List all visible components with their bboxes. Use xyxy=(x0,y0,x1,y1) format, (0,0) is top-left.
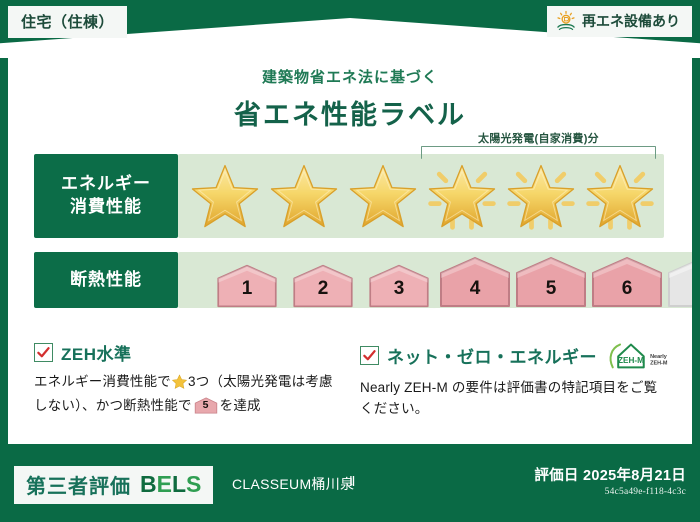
checkbox-checked-icon xyxy=(360,346,379,365)
energy-label-line2: 消費性能 xyxy=(70,196,142,219)
inline-star-icon xyxy=(172,374,187,396)
net-zero-description: Nearly ZEH-M の要件は評価書の特記項目をご覧ください。 xyxy=(360,378,664,420)
net-zero-energy-block: ネット・ゼロ・エネルギー ZEH-M Nearly ZEH-M Nearly Z… xyxy=(360,340,664,420)
insulation-grade-number: 3 xyxy=(362,278,436,300)
third-party-eval-label: 第三者評価 xyxy=(26,470,131,499)
title-subtitle: 建築物省エネ法に基づく xyxy=(8,66,692,87)
insulation-grade-number: 4 xyxy=(438,278,512,300)
solar-bracket-label: 太陽光発電(自家消費)分 xyxy=(419,130,658,146)
energy-label-root: 住宅（住棟） 再エネ設備あり 建築物省エネ法に基づく 省エネ性 xyxy=(0,0,700,522)
star-filled xyxy=(186,156,264,236)
insulation-performance-label: 断熱性能 xyxy=(34,252,178,308)
net-zero-header: ネット・ゼロ・エネルギー ZEH-M Nearly ZEH-M xyxy=(360,340,664,371)
zeh-m-logo-icon: ZEH-M Nearly ZEH-M xyxy=(607,340,675,371)
zeh-desc-part3: を達成 xyxy=(220,398,261,413)
zeh-standard-header: ZEH水準 xyxy=(34,340,338,365)
energy-label-line1: エネルギー xyxy=(61,173,151,196)
housing-type-tag: 住宅（住棟） xyxy=(8,6,127,38)
net-zero-title: ネット・ゼロ・エネルギー xyxy=(387,343,597,368)
energy-rating-area: 太陽光発電(自家消費)分 xyxy=(178,154,664,238)
title-block: 建築物省エネ法に基づく 省エネ性能ラベル xyxy=(8,44,692,132)
star-rating xyxy=(178,156,664,236)
bels-logo: BELS xyxy=(140,471,201,498)
insulation-performance-row: 断熱性能 1 2 3 4 5 xyxy=(34,252,664,308)
project-name: CLASSEUM桶川泉 xyxy=(232,474,354,494)
renewable-equipment-badge: 再エネ設備あり xyxy=(547,6,692,37)
insulation-grade-on: 3 xyxy=(362,264,436,308)
insulation-grade-on: 1 xyxy=(210,264,284,308)
energy-performance-row: エネルギー 消費性能 太陽光発電(自家消費)分 xyxy=(34,154,664,238)
insulation-grade-on: 6 xyxy=(590,256,664,308)
checkbox-checked-icon xyxy=(34,343,53,362)
page-title: 省エネ性能ラベル xyxy=(8,93,692,132)
renewable-badge-label: 再エネ設備あり xyxy=(582,11,680,31)
insulation-grade-scale: 1 2 3 4 5 6 7 xyxy=(178,252,692,308)
insulation-grade-number: 7 xyxy=(666,278,692,300)
insulation-grade-on: 2 xyxy=(286,264,360,308)
star-filled xyxy=(265,156,343,236)
star-solar xyxy=(502,156,580,236)
insulation-label-text: 断熱性能 xyxy=(70,269,142,292)
zeh-standard-block: ZEH水準 エネルギー消費性能で3つ（太陽光発電は考慮しない）、かつ断熱性能で5… xyxy=(34,340,338,420)
sun-renewable-icon xyxy=(555,10,577,32)
insulation-rating-area: 1 2 3 4 5 6 7 xyxy=(178,252,692,308)
insulation-grade-off: 7 xyxy=(666,256,692,308)
evaluation-date: 評価日 2025年8月21日 xyxy=(534,464,686,485)
insulation-grade-on: 4 xyxy=(438,256,512,308)
svg-text:Nearly: Nearly xyxy=(650,354,668,360)
solar-bracket: 太陽光発電(自家消費)分 xyxy=(419,132,658,158)
evaluation-id: 54c5a49e-f118-4c3c xyxy=(534,487,686,497)
zeh-standard-title: ZEH水準 xyxy=(61,340,132,365)
svg-text:ZEH-M: ZEH-M xyxy=(618,356,644,365)
zeh-desc-part1: エネルギー消費性能で xyxy=(34,374,171,389)
svg-text:ZEH-M: ZEH-M xyxy=(650,361,668,367)
project-name-suffix: Ⅱ xyxy=(349,474,355,490)
energy-performance-label: エネルギー 消費性能 xyxy=(34,154,178,238)
star-solar xyxy=(423,156,501,236)
zeh-standard-description: エネルギー消費性能で3つ（太陽光発電は考慮しない）、かつ断熱性能で5を達成 xyxy=(34,372,338,417)
label-card: 建築物省エネ法に基づく 省エネ性能ラベル ハウスタ エネルギー 消費性能 太陽光… xyxy=(8,44,692,444)
star-solar xyxy=(581,156,659,236)
insulation-grade-number: 5 xyxy=(514,278,588,300)
footer-band: 第三者評価 BELS CLASSEUM桶川泉 Ⅱ 評価日 2025年8月21日 … xyxy=(0,452,700,522)
insulation-grade-number: 6 xyxy=(590,278,664,300)
bels-certification-badge: 第三者評価 BELS xyxy=(14,466,213,504)
insulation-grade-number: 1 xyxy=(210,278,284,300)
inline-house-badge: 5 xyxy=(194,397,218,414)
insulation-grade-on: 5 xyxy=(514,256,588,308)
zeh-criteria-section: ZEH水準 エネルギー消費性能で3つ（太陽光発電は考慮しない）、かつ断熱性能で5… xyxy=(34,340,664,420)
performance-rows: エネルギー 消費性能 太陽光発電(自家消費)分 xyxy=(34,154,664,322)
evaluation-info: 評価日 2025年8月21日 54c5a49e-f118-4c3c xyxy=(534,464,686,497)
insulation-grade-number: 2 xyxy=(286,278,360,300)
solar-bracket-line xyxy=(421,146,656,159)
star-filled xyxy=(344,156,422,236)
inline-house-number: 5 xyxy=(194,397,218,413)
